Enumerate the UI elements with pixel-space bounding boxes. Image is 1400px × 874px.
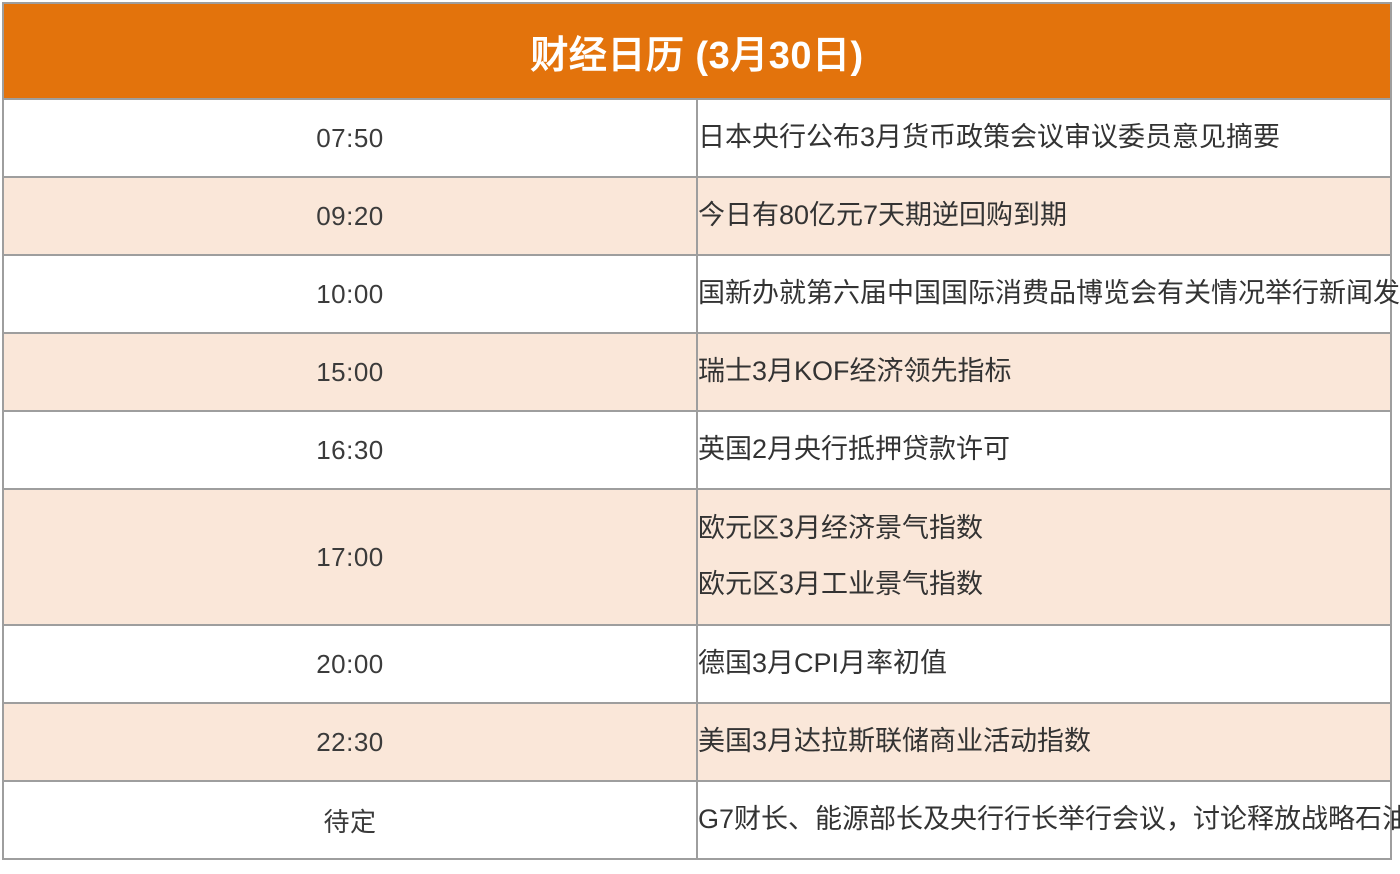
event-time: 07:50 bbox=[3, 99, 697, 177]
event-description: G7财长、能源部长及央行行长举行会议，讨论释放战略石油储备的问题 bbox=[697, 781, 1391, 859]
event-description: 今日有80亿元7天期逆回购到期 bbox=[697, 177, 1391, 255]
calendar-table-body: 财经日历 (3月30日) bbox=[3, 3, 1391, 99]
table-row: 07:50日本央行公布3月货币政策会议审议委员意见摘要 bbox=[3, 99, 1391, 177]
event-description: 英国2月央行抵押贷款许可 bbox=[697, 411, 1391, 489]
calendar-header-row: 财经日历 (3月30日) bbox=[3, 3, 1391, 99]
event-line: 欧元区3月工业景气指数 bbox=[698, 564, 1390, 606]
table-row: 22:30美国3月达拉斯联储商业活动指数 bbox=[3, 703, 1391, 781]
event-line: 欧元区3月经济景气指数 bbox=[698, 508, 1390, 550]
table-row: 10:00国新办就第六届中国国际消费品博览会有关情况举行新闻发布会 bbox=[3, 255, 1391, 333]
table-row: 17:00欧元区3月经济景气指数欧元区3月工业景气指数 bbox=[3, 489, 1391, 625]
event-time: 17:00 bbox=[3, 489, 697, 625]
financial-calendar: 财经日历 (3月30日) 07:50日本央行公布3月货币政策会议审议委员意见摘要… bbox=[2, 2, 1392, 860]
event-time: 10:00 bbox=[3, 255, 697, 333]
event-time: 20:00 bbox=[3, 625, 697, 703]
table-row: 09:20今日有80亿元7天期逆回购到期 bbox=[3, 177, 1391, 255]
event-time: 09:20 bbox=[3, 177, 697, 255]
event-line: 今日有80亿元7天期逆回购到期 bbox=[698, 195, 1390, 237]
event-description: 瑞士3月KOF经济领先指标 bbox=[697, 333, 1391, 411]
calendar-rows: 07:50日本央行公布3月货币政策会议审议委员意见摘要09:20今日有80亿元7… bbox=[3, 99, 1391, 859]
event-line: 日本央行公布3月货币政策会议审议委员意见摘要 bbox=[698, 117, 1390, 159]
event-description: 德国3月CPI月率初值 bbox=[697, 625, 1391, 703]
event-description: 美国3月达拉斯联储商业活动指数 bbox=[697, 703, 1391, 781]
event-description: 欧元区3月经济景气指数欧元区3月工业景气指数 bbox=[697, 489, 1391, 625]
event-time: 15:00 bbox=[3, 333, 697, 411]
table-row: 16:30英国2月央行抵押贷款许可 bbox=[3, 411, 1391, 489]
event-line: G7财长、能源部长及央行行长举行会议，讨论释放战略石油储备的问题 bbox=[698, 799, 1390, 841]
event-time: 待定 bbox=[3, 781, 697, 859]
event-line: 英国2月央行抵押贷款许可 bbox=[698, 429, 1390, 471]
event-line: 瑞士3月KOF经济领先指标 bbox=[698, 351, 1390, 393]
event-description: 国新办就第六届中国国际消费品博览会有关情况举行新闻发布会 bbox=[697, 255, 1391, 333]
event-line: 美国3月达拉斯联储商业活动指数 bbox=[698, 721, 1390, 763]
event-line: 德国3月CPI月率初值 bbox=[698, 643, 1390, 685]
table-row: 20:00德国3月CPI月率初值 bbox=[3, 625, 1391, 703]
calendar-table: 财经日历 (3月30日) 07:50日本央行公布3月货币政策会议审议委员意见摘要… bbox=[2, 2, 1392, 860]
event-time: 22:30 bbox=[3, 703, 697, 781]
event-line: 国新办就第六届中国国际消费品博览会有关情况举行新闻发布会 bbox=[698, 273, 1390, 315]
event-description: 日本央行公布3月货币政策会议审议委员意见摘要 bbox=[697, 99, 1391, 177]
page-title: 财经日历 (3月30日) bbox=[3, 3, 1391, 99]
event-time: 16:30 bbox=[3, 411, 697, 489]
table-row: 15:00瑞士3月KOF经济领先指标 bbox=[3, 333, 1391, 411]
table-row: 待定G7财长、能源部长及央行行长举行会议，讨论释放战略石油储备的问题 bbox=[3, 781, 1391, 859]
